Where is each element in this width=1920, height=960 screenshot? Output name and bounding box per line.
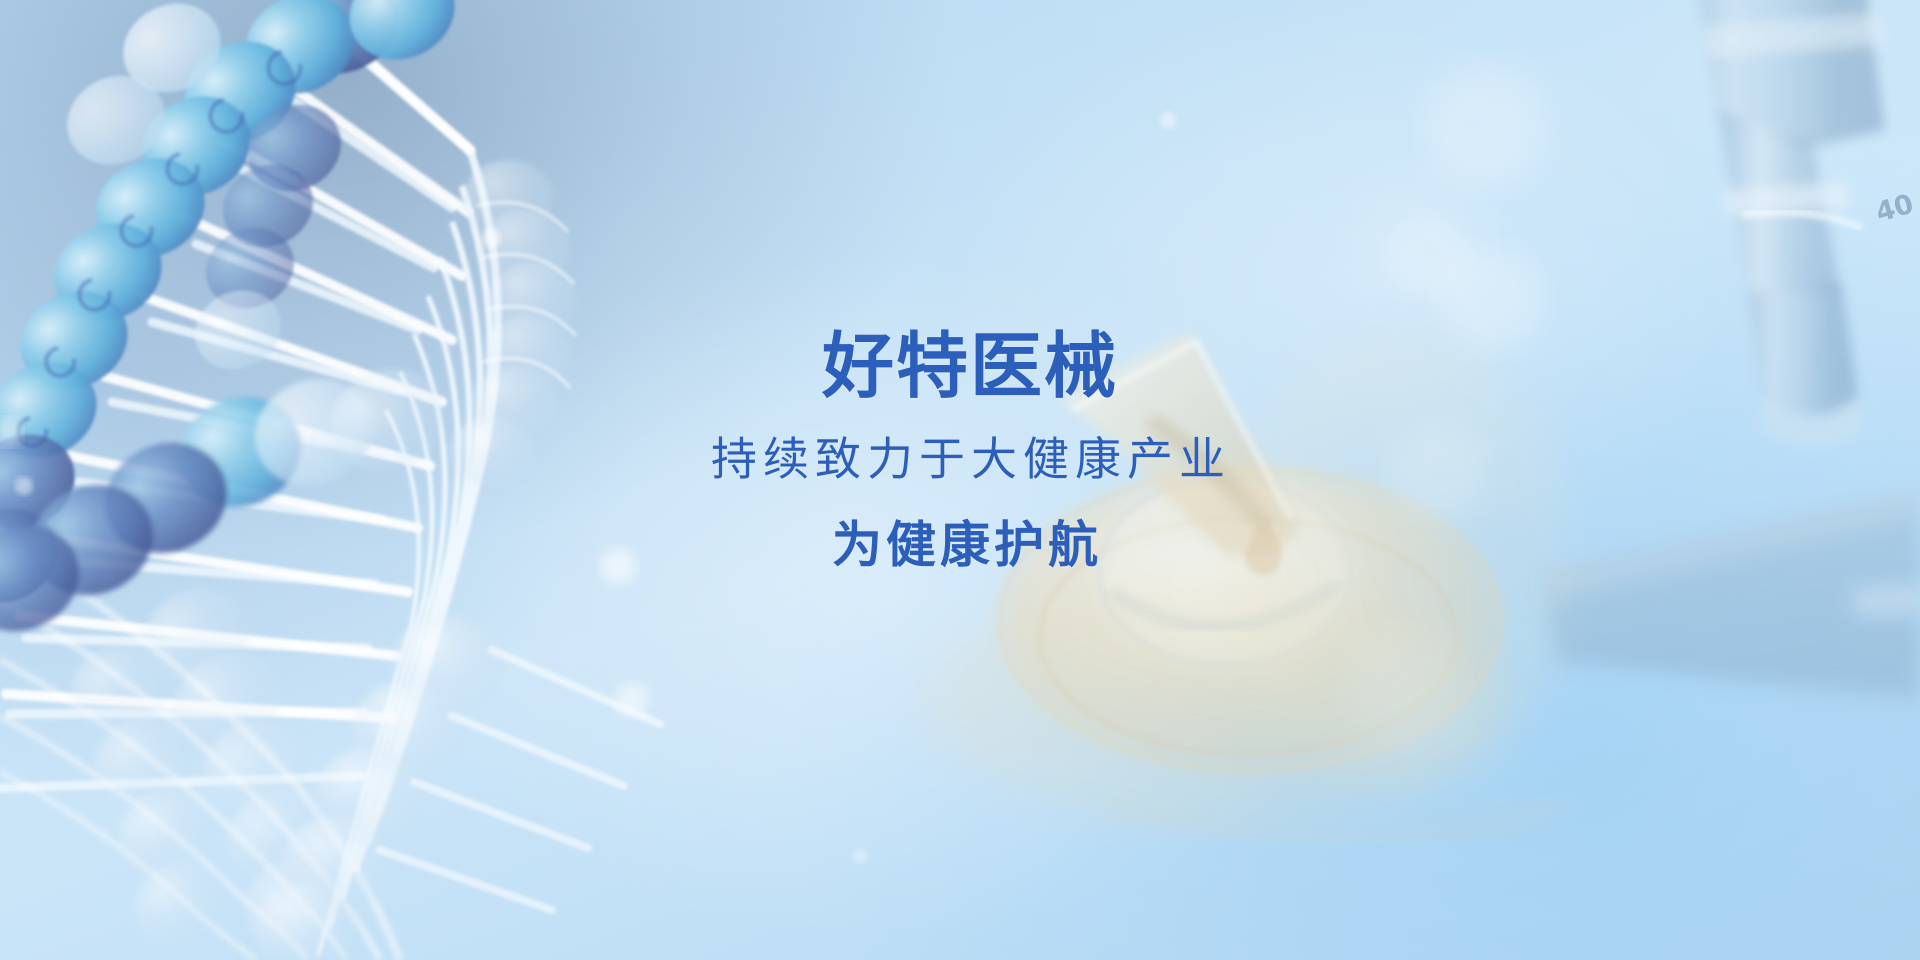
microscope-magnification-label: 40 [1872, 189, 1917, 229]
page-title: 好特医械 [0, 330, 1920, 402]
hero-headline-block: 好特医械 持续致力于大健康产业 为健康护航 [0, 330, 1920, 570]
hero-subtitle: 持续致力于大健康产业 [0, 436, 1920, 482]
hero-banner: 40 [0, 0, 1920, 960]
hero-tagline: 为健康护航 [0, 520, 1920, 570]
